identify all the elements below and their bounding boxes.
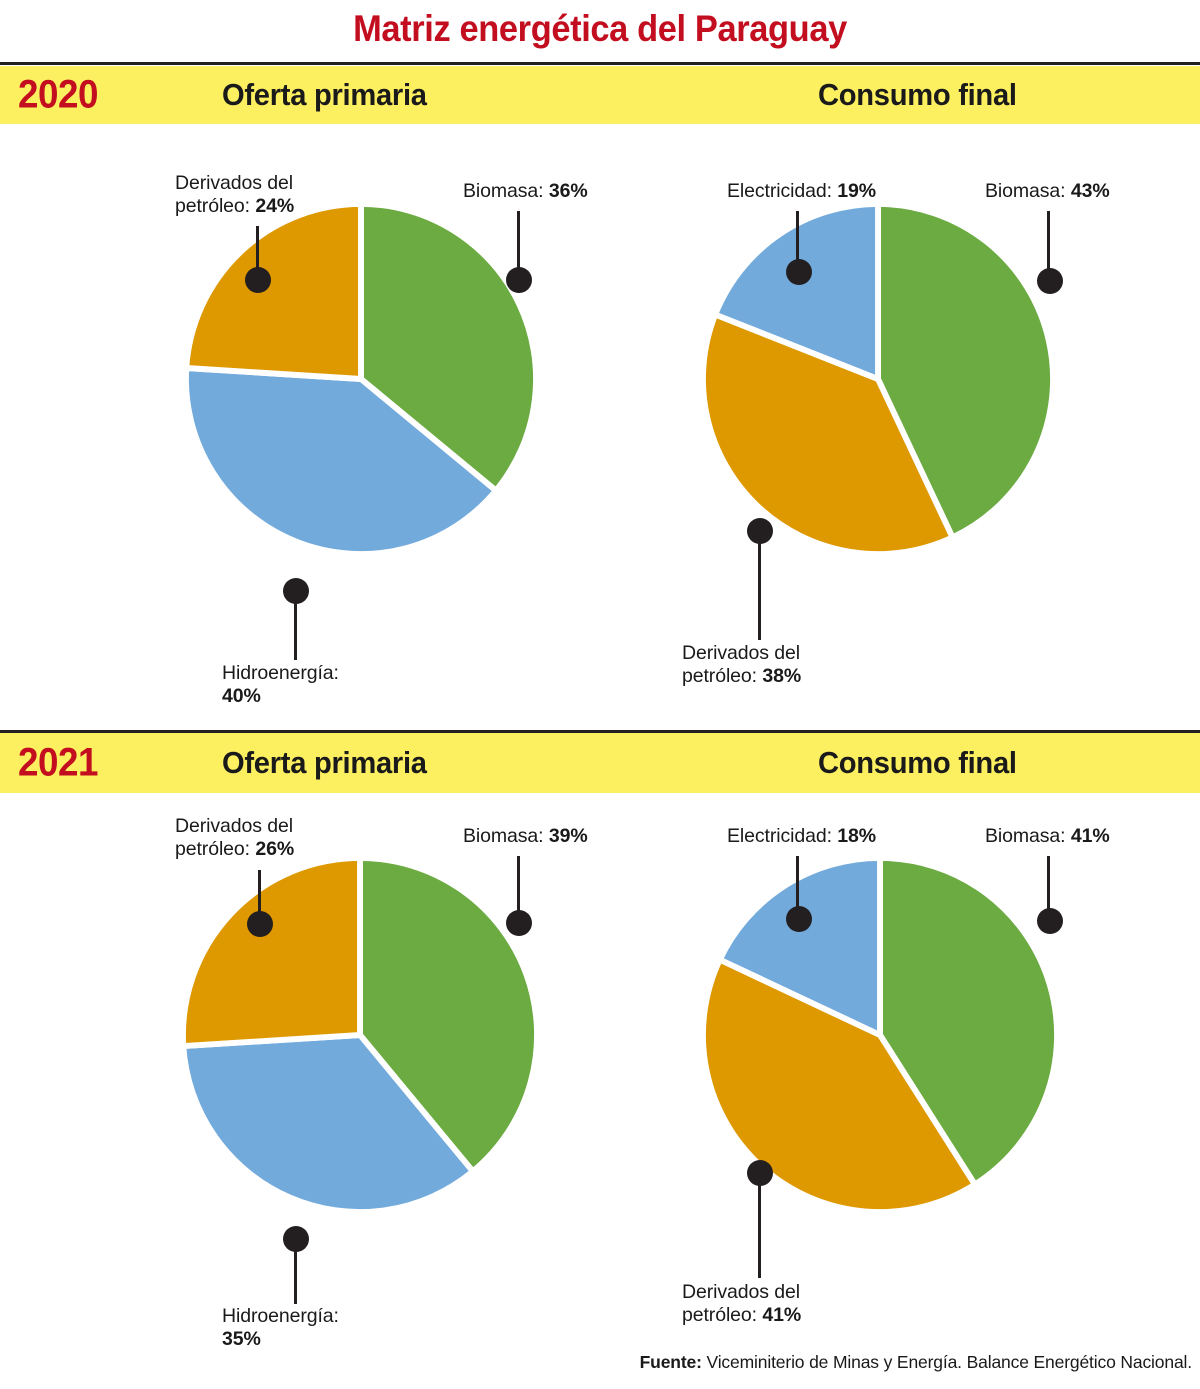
leader-line (294, 600, 297, 660)
callout-value: 26% (255, 838, 294, 860)
callout-value: 41% (762, 1304, 801, 1326)
callout-value: 43% (1071, 180, 1110, 202)
callout-value: 19% (837, 180, 876, 202)
source-text: Viceminiterio de Minas y Energía. Balanc… (706, 1352, 1192, 1372)
year-band-2021: 2021 Oferta primaria Consumo final (0, 733, 1200, 793)
leader-line (517, 856, 520, 916)
callout-line1: Biomasa: (985, 825, 1066, 847)
heading-oferta-primaria-2021: Oferta primaria (222, 745, 427, 781)
heading-oferta-primaria-2020: Oferta primaria (222, 77, 427, 113)
divider-top (0, 62, 1200, 65)
leader-dot (506, 267, 532, 293)
pie-chart-consumo-final-2020 (700, 201, 1056, 557)
year-band-2020: 2020 Oferta primaria Consumo final (0, 66, 1200, 124)
callout-line2: petróleo: (682, 665, 757, 687)
leader-line (796, 856, 799, 908)
callout-line1: Biomasa: (985, 180, 1066, 202)
callout-value: 35% (222, 1328, 261, 1350)
slice-derivados-26 (183, 858, 360, 1046)
callout-line1: Derivados del (682, 642, 800, 664)
callout-line1: Biomasa: (463, 825, 544, 847)
heading-consumo-final-2020: Consumo final (818, 77, 1017, 113)
callout-line1: Hidroenergía: (222, 662, 339, 684)
leader-dot (245, 267, 271, 293)
leader-dot (1037, 268, 1063, 294)
callout-value: 38% (762, 665, 801, 687)
callout-line2: petróleo: (175, 195, 250, 217)
source-note: Fuente: Viceminiterio de Minas y Energía… (640, 1352, 1192, 1373)
year-label-2020: 2020 (18, 73, 98, 118)
year-label-2021: 2021 (18, 741, 98, 786)
pie-chart-oferta-primaria-2021 (180, 855, 540, 1215)
leader-line (758, 1182, 761, 1278)
heading-consumo-final-2021: Consumo final (818, 745, 1017, 781)
leader-line (758, 540, 761, 640)
leader-line (294, 1248, 297, 1304)
callout-line1: Derivados del (682, 1281, 800, 1303)
page-title: Matriz energética del Paraguay (42, 8, 1158, 50)
callout-line1: Electricidad: (727, 180, 832, 202)
leader-dot (506, 910, 532, 936)
callout-line1: Derivados del (175, 815, 293, 837)
callout-value: 18% (837, 825, 876, 847)
pie-chart-oferta-primaria-2020-render (183, 201, 539, 557)
callout-line1: Biomasa: (463, 180, 544, 202)
callout-line2: petróleo: (682, 1304, 757, 1326)
callout-line1: Hidroenergía: (222, 1305, 339, 1327)
leader-dot (247, 911, 273, 937)
callout-line1: Electricidad: (727, 825, 832, 847)
leader-line (1047, 856, 1050, 914)
callout-line1: Derivados del (175, 172, 293, 194)
callout-line2: petróleo: (175, 838, 250, 860)
callout-value: 36% (549, 180, 588, 202)
source-label: Fuente: (640, 1352, 702, 1372)
callout-value: 39% (549, 825, 588, 847)
leader-line (1047, 211, 1050, 276)
leader-dot (786, 906, 812, 932)
infographic-root: Matriz energética del Paraguay 2020 Ofer… (0, 0, 1200, 1389)
leader-dot (786, 259, 812, 285)
leader-dot (1037, 908, 1063, 934)
callout-value: 40% (222, 685, 261, 707)
callout-value: 24% (255, 195, 294, 217)
slice-derivados-24 (186, 204, 361, 379)
callout-value: 41% (1071, 825, 1110, 847)
